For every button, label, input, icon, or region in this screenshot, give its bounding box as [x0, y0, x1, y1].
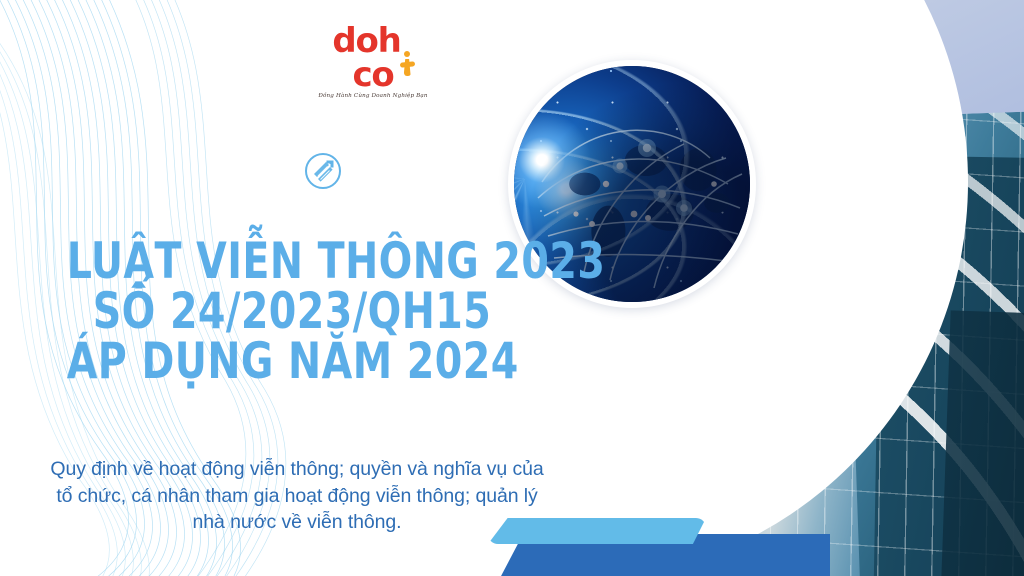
headline-block: LUẬT VIỄN THÔNG 2023 SỐ 24/2023/QH15 ÁP …: [36, 238, 548, 384]
headline-line-3: ÁP DỤNG NĂM 2024: [67, 338, 518, 384]
headline-line-1: LUẬT VIỄN THÔNG 2023: [67, 238, 518, 284]
slide-canvas: dohco Đồng Hành Cùng Doanh Nghiệp Bạn LU…: [0, 0, 1024, 576]
headline-line-2: SỐ 24/2023/QH15: [67, 288, 518, 334]
bottom-bar-light: [488, 518, 706, 544]
circle-arrow-up-right-icon: [303, 151, 343, 191]
logo-wordmark: dohco: [313, 24, 433, 92]
logo-text-co: co: [352, 55, 393, 95]
subtitle-text: Quy định về hoạt động viễn thông; quyền …: [50, 456, 544, 536]
brand-logo[interactable]: dohco Đồng Hành Cùng Doanh Nghiệp Bạn: [313, 24, 433, 80]
building-dark-wing: [937, 310, 1024, 576]
